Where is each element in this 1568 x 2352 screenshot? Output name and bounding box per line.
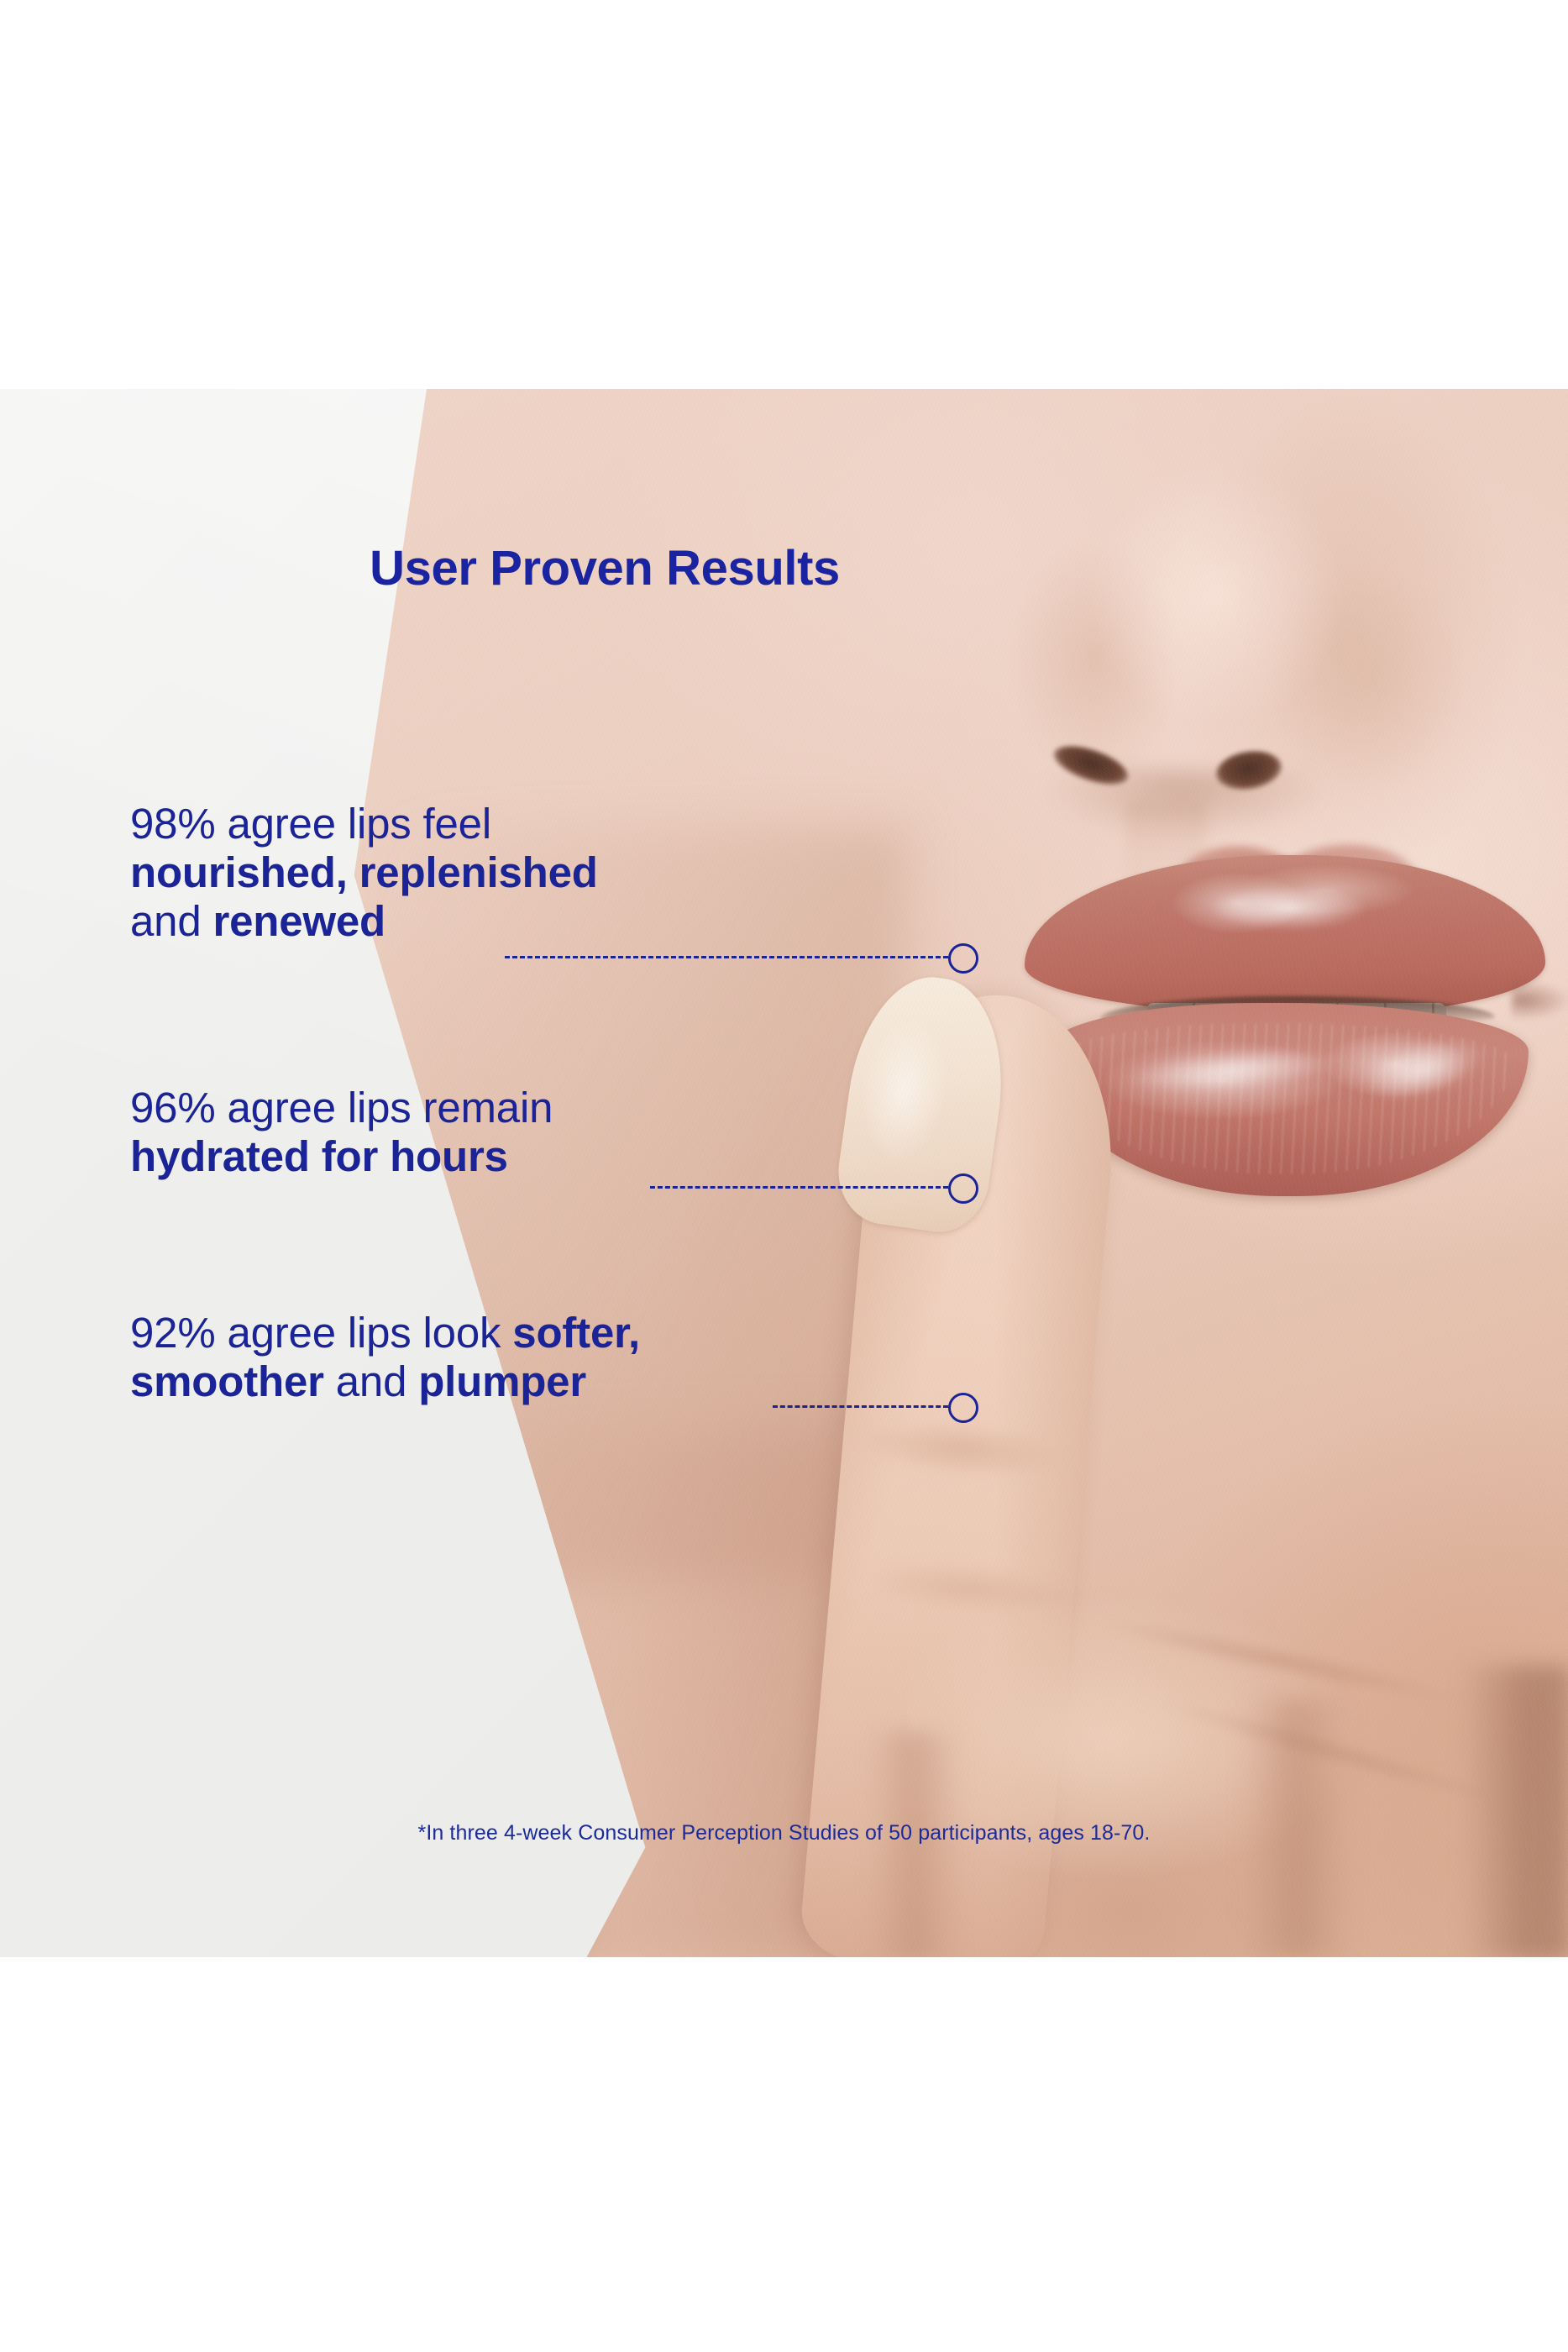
claim-softer-line-1-prefix: 92% agree lips look <box>130 1309 512 1357</box>
claim-hydrated-line-2: hydrated for hours <box>130 1132 1020 1181</box>
claim-nourished-line-3-bold: renewed <box>212 897 385 945</box>
claim-nourished-line-2-bold: nourished, replenished <box>130 848 598 896</box>
ad-creative-canvas: User Proven Results 98% agree lips feel … <box>0 0 1568 2352</box>
leader-line-softer <box>773 1405 948 1408</box>
page-title: User Proven Results <box>0 540 1209 596</box>
claim-nourished-line-1: 98% agree lips feel <box>130 800 1020 848</box>
claim-nourished: 98% agree lips feel nourished, replenish… <box>130 800 1020 946</box>
claim-hydrated-line-1: 96% agree lips remain <box>130 1084 1020 1132</box>
leader-line-hydrated <box>650 1186 948 1189</box>
text-overlay: User Proven Results 98% agree lips feel … <box>0 0 1568 2352</box>
claim-softer-line-2-bold-b: plumper <box>418 1357 586 1405</box>
claim-softer-line-2-mid: and <box>324 1357 418 1405</box>
callout-dot-softer <box>948 1393 978 1423</box>
claim-softer-line-1-bold: softer, <box>512 1309 640 1357</box>
leader-line-nourished <box>505 956 948 958</box>
claim-hydrated-line-2-bold: hydrated for hours <box>130 1132 508 1180</box>
claim-hydrated: 96% agree lips remain hydrated for hours <box>130 1084 1020 1181</box>
claim-nourished-line-3: and renewed <box>130 897 1020 946</box>
claim-softer: 92% agree lips look softer, smoother and… <box>130 1309 1020 1406</box>
claim-softer-line-2: smoother and plumper <box>130 1357 1020 1406</box>
claim-softer-line-1: 92% agree lips look softer, <box>130 1309 1020 1357</box>
claim-nourished-line-2: nourished, replenished <box>130 848 1020 897</box>
claim-softer-line-2-bold-a: smoother <box>130 1357 324 1405</box>
claim-nourished-line-3-prefix: and <box>130 897 212 945</box>
footnote-disclaimer: *In three 4-week Consumer Perception Stu… <box>0 1821 1568 1845</box>
callout-dot-nourished <box>948 943 978 974</box>
callout-dot-hydrated <box>948 1173 978 1204</box>
